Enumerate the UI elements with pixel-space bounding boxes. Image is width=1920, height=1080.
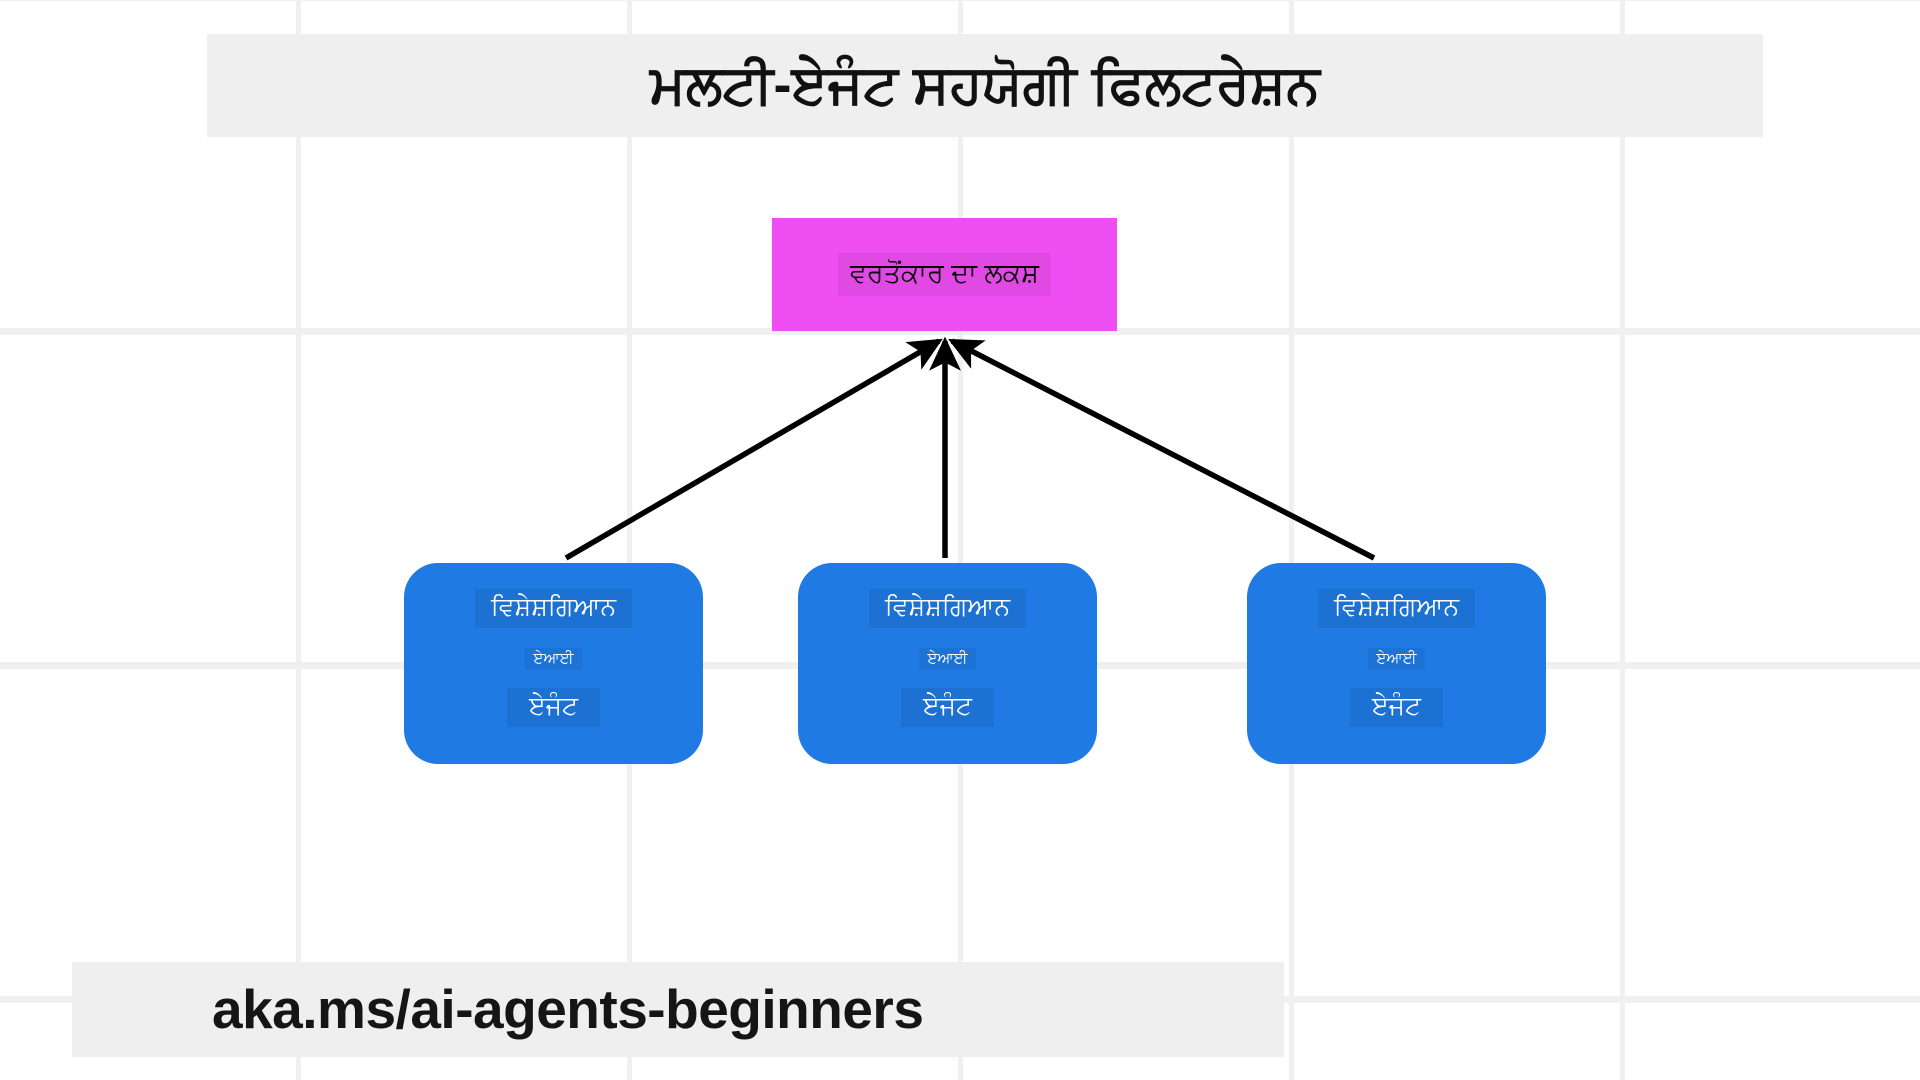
connector-agent3-to-goal (952, 341, 1374, 558)
agent-subtitle-label: ਏਆਈ (1368, 648, 1424, 671)
diagram-canvas: ਮਲਟੀ-ਏਜੰਟ ਸਹਯੋਗੀ ਫਿਲਟਰੇਸ਼ਨ ਵਰਤੋਂਕਾਰ ਦਾ ਲ… (0, 0, 1920, 1080)
footer-band: aka.ms/ai-agents-beginners (72, 962, 1284, 1057)
agent-node-1[interactable]: ਵਿਸ਼ੇਸ਼ਗਿਆਨ ਏਆਈ ਏਜੰਟ (404, 563, 703, 764)
agent-specialization-label: ਵਿਸ਼ੇਸ਼ਗਿਆਨ (1318, 589, 1475, 628)
page-title: ਮਲਟੀ-ਏਜੰਟ ਸਹਯੋਗੀ ਫਿਲਟਰੇਸ਼ਨ (650, 54, 1320, 116)
agent-role-label: ਏਜੰਟ (1350, 688, 1443, 727)
goal-node[interactable]: ਵਰਤੋਂਕਾਰ ਦਾ ਲਕਸ਼ (772, 218, 1117, 331)
title-band: ਮਲਟੀ-ਏਜੰਟ ਸਹਯੋਗੀ ਫਿਲਟਰੇਸ਼ਨ (207, 34, 1763, 137)
agent-node-3[interactable]: ਵਿਸ਼ੇਸ਼ਗਿਆਨ ਏਆਈ ਏਜੰਟ (1247, 563, 1546, 764)
agent-subtitle-label: ਏਆਈ (525, 648, 581, 671)
connector-agent1-to-goal (566, 341, 939, 558)
footer-url[interactable]: aka.ms/ai-agents-beginners (212, 979, 923, 1040)
agent-subtitle-label: ਏਆਈ (919, 648, 975, 671)
agent-role-label: ਏਜੰਟ (901, 688, 994, 727)
agent-node-2[interactable]: ਵਿਸ਼ੇਸ਼ਗਿਆਨ ਏਆਈ ਏਜੰਟ (798, 563, 1097, 764)
connector-layer (0, 0, 1920, 1080)
agent-specialization-label: ਵਿਸ਼ੇਸ਼ਗਿਆਨ (475, 589, 632, 628)
agent-specialization-label: ਵਿਸ਼ੇਸ਼ਗਿਆਨ (869, 589, 1026, 628)
agent-role-label: ਏਜੰਟ (507, 688, 600, 727)
goal-node-label: ਵਰਤੋਂਕਾਰ ਦਾ ਲਕਸ਼ (838, 253, 1051, 297)
